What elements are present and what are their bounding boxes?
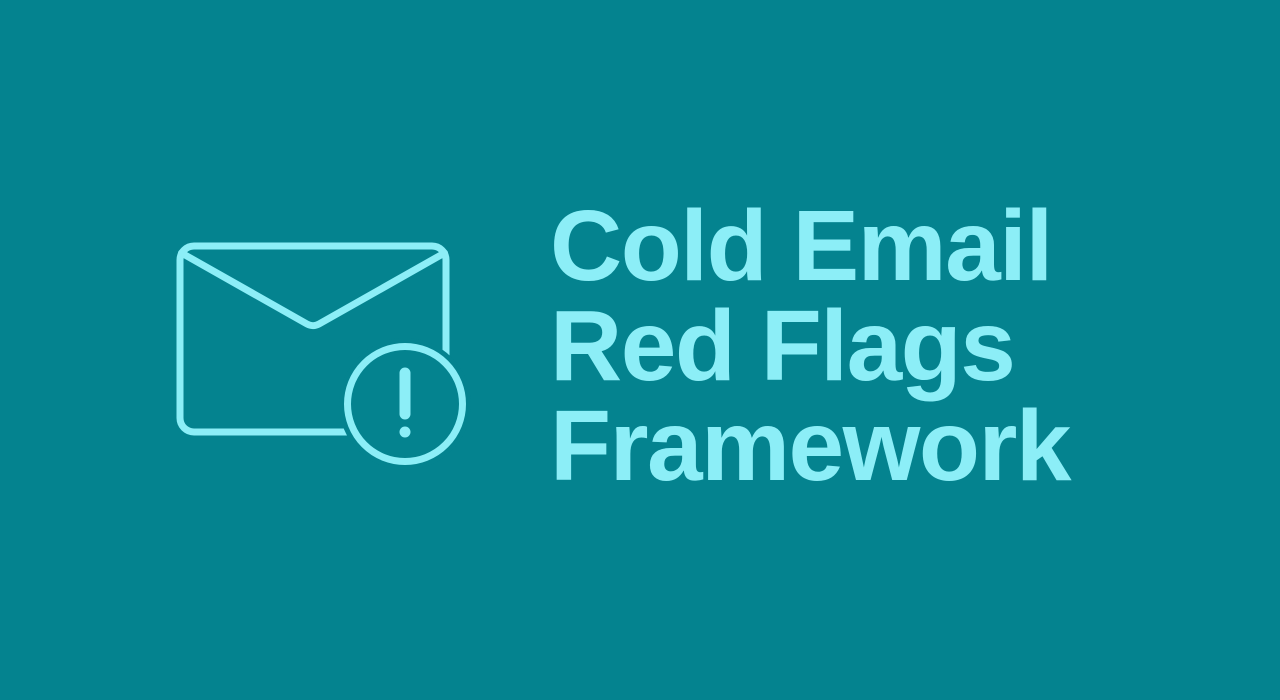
title-line-1: Cold Email	[550, 196, 1170, 296]
email-alert-icon-svg	[170, 220, 480, 480]
email-alert-icon	[170, 220, 480, 480]
page-title: Cold Email Red Flags Framework	[550, 196, 1170, 496]
title-line-3: Framework	[550, 396, 1170, 496]
poster-canvas: Cold Email Red Flags Framework	[0, 0, 1280, 700]
exclamation-dot-icon	[400, 427, 411, 438]
envelope-flap-icon	[182, 253, 445, 326]
title-line-2: Red Flags	[550, 296, 1170, 396]
